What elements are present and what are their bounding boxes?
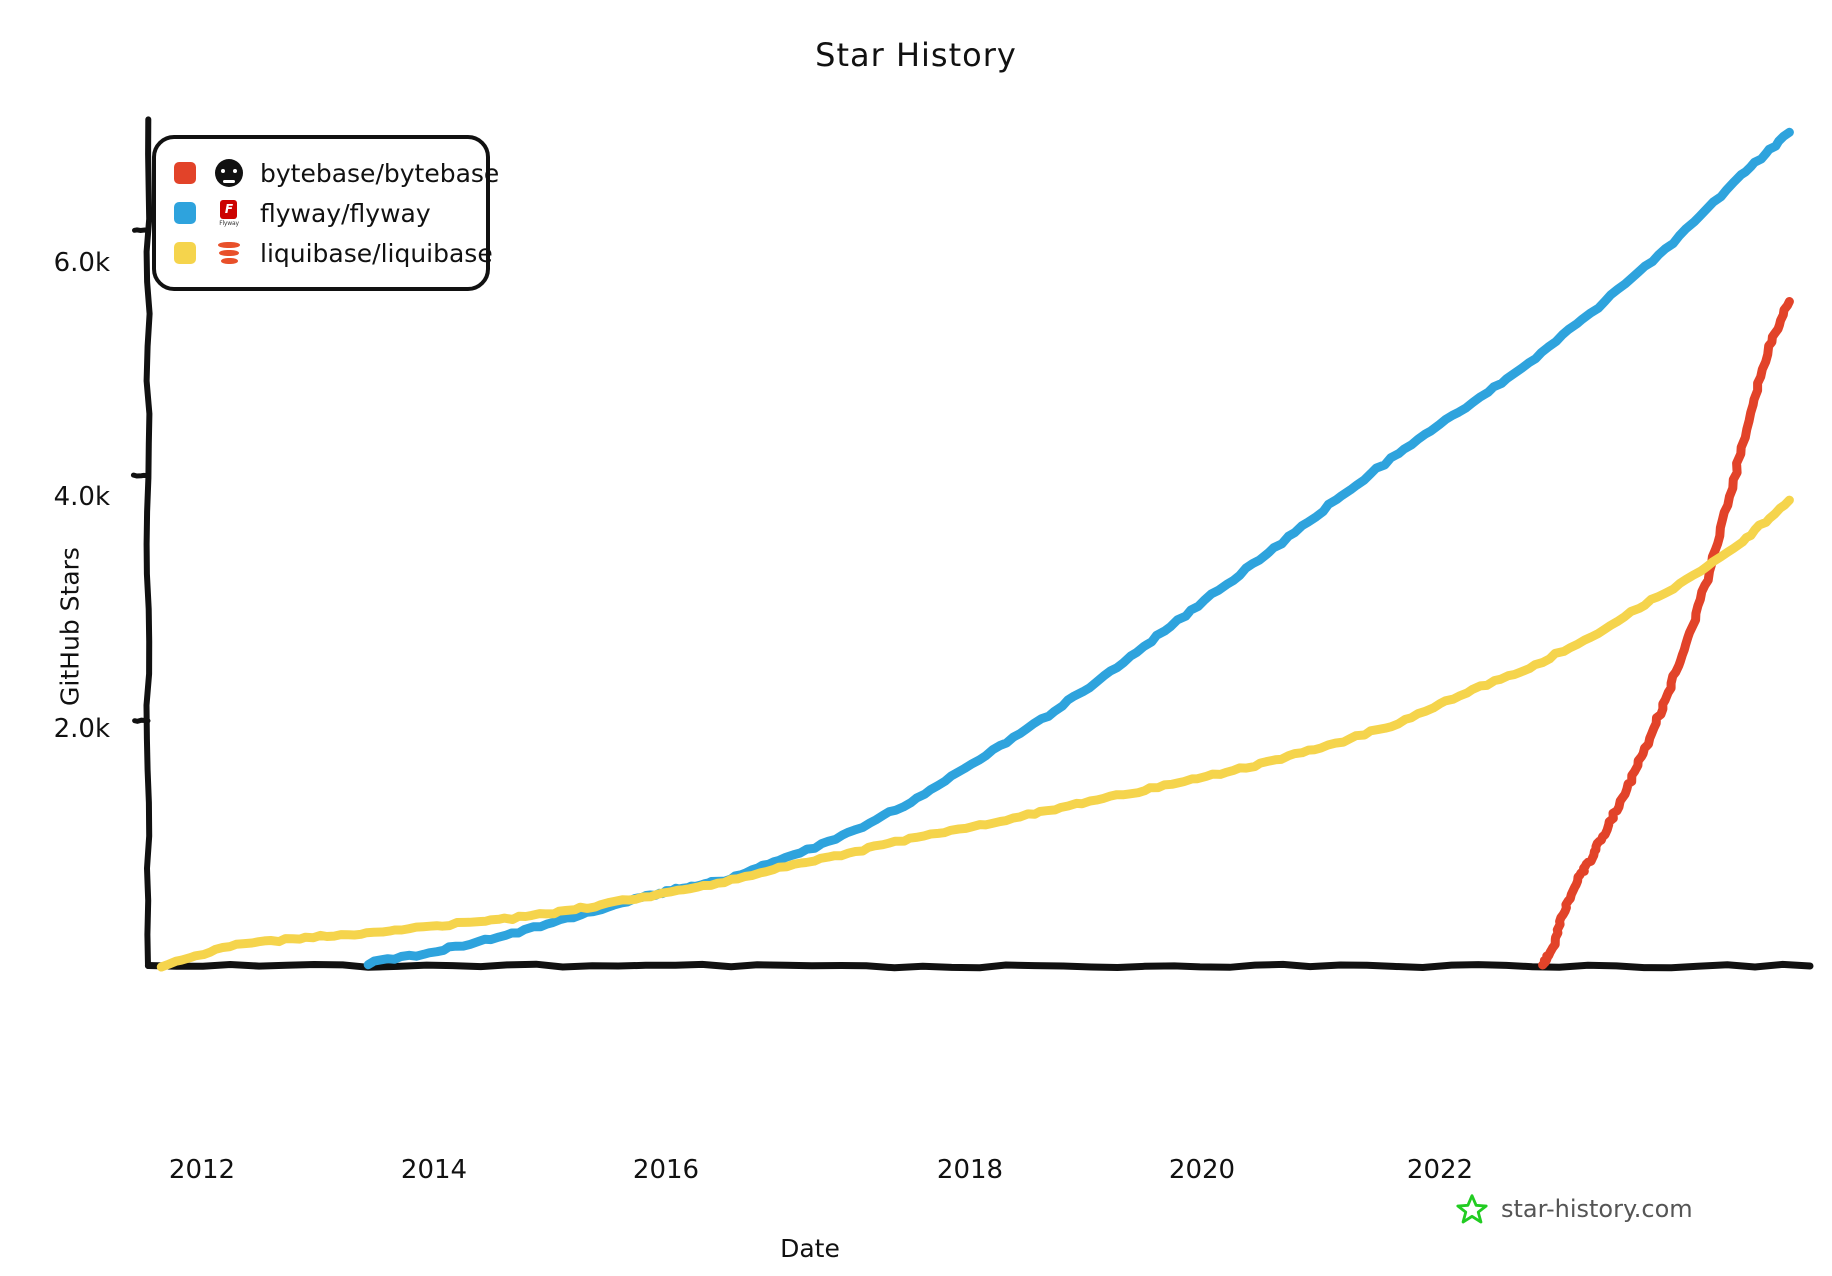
legend-swatch	[174, 162, 196, 184]
y-axis-tick	[133, 475, 148, 476]
star-icon	[1455, 1192, 1489, 1226]
flyway-logo-icon: F Flyway	[214, 198, 244, 228]
legend-item-flyway[interactable]: F Flyway flyway/flyway	[174, 193, 470, 233]
legend-item-label: flyway/flyway	[260, 199, 431, 228]
y-axis-tick	[135, 230, 149, 231]
legend-item-liquibase[interactable]: liquibase/liquibase	[174, 233, 470, 273]
x-axis-line	[148, 964, 1810, 968]
star-history-chart: Star History GitHub Stars Date 6.0k 4.0k…	[0, 0, 1832, 1276]
liquibase-logo-icon	[214, 238, 244, 268]
bytebase-logo-icon	[214, 158, 244, 188]
legend-item-label: liquibase/liquibase	[260, 239, 493, 268]
legend-swatch	[174, 202, 196, 224]
legend-swatch	[174, 242, 196, 264]
y-axis-tick	[135, 720, 148, 721]
y-axis-line	[147, 119, 150, 966]
series-line	[368, 132, 1789, 964]
series-line	[161, 500, 1789, 967]
legend-item-bytebase[interactable]: bytebase/bytebase	[174, 153, 470, 193]
watermark[interactable]: star-history.com	[1455, 1192, 1693, 1226]
series-line	[1543, 302, 1790, 966]
watermark-label: star-history.com	[1501, 1195, 1693, 1223]
legend: bytebase/bytebase F Flyway flyway/flyway…	[152, 135, 490, 291]
legend-item-label: bytebase/bytebase	[260, 159, 499, 188]
flyway-mark-name: Flyway	[219, 220, 239, 227]
flyway-mark-initial: F	[220, 200, 237, 219]
